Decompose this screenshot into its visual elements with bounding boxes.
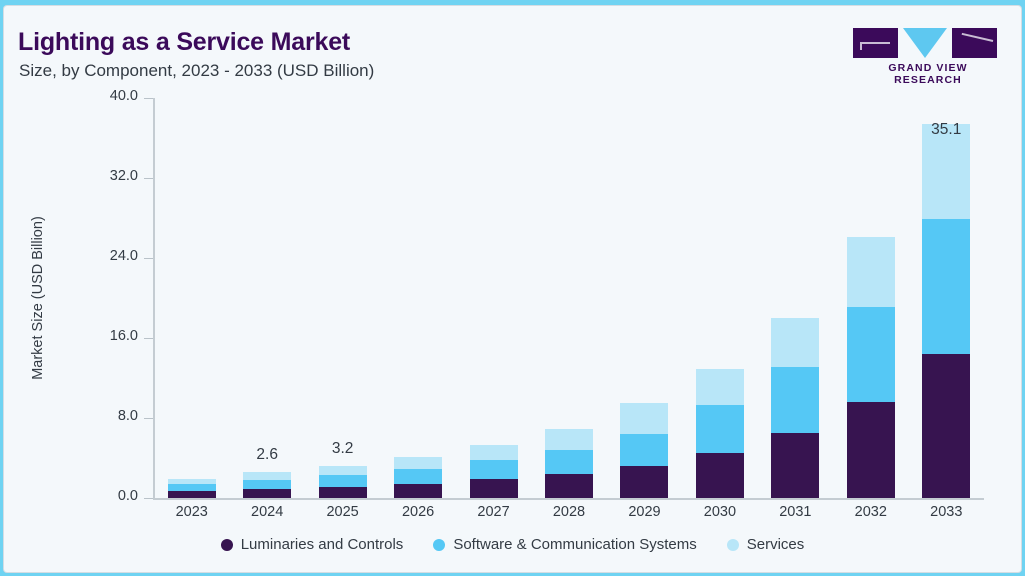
bar-segment[interactable] — [319, 475, 367, 487]
bar-segment[interactable] — [847, 402, 895, 498]
bar-segment[interactable] — [922, 219, 970, 354]
legend-color-swatch-icon — [727, 539, 739, 551]
y-axis-tick-labels: 0.08.016.024.032.040.0 — [78, 94, 138, 572]
x-tick-label: 2028 — [529, 504, 609, 520]
page-subtitle: Size, by Component, 2023 - 2033 (USD Bil… — [19, 61, 374, 81]
y-tick-mark — [144, 98, 153, 99]
x-tick-label: 2024 — [227, 504, 307, 520]
bar-segment[interactable] — [394, 469, 442, 484]
x-tick-label: 2023 — [152, 504, 232, 520]
bar-segment[interactable] — [470, 460, 518, 479]
y-axis-title: Market Size (USD Billion) — [30, 168, 46, 428]
legend-label: Luminaries and Controls — [241, 536, 404, 553]
chart-plot-area: Market Size (USD Billion) 0.08.016.024.0… — [4, 94, 1021, 572]
y-tick-label: 0.0 — [78, 488, 138, 504]
x-tick-label: 2029 — [604, 504, 684, 520]
legend-label: Services — [747, 536, 805, 553]
bar-value-label: 35.1 — [906, 121, 986, 139]
bar-segment[interactable] — [922, 354, 970, 498]
bar-segment[interactable] — [771, 367, 819, 433]
bar-segment[interactable] — [319, 487, 367, 498]
bar-segment[interactable] — [620, 466, 668, 498]
x-axis-line — [153, 498, 984, 500]
x-tick-label: 2025 — [303, 504, 383, 520]
bar-column[interactable] — [243, 472, 291, 498]
brand-logo: GRAND VIEW RESEARCH — [853, 28, 1003, 76]
chart-header: Lighting as a Service Market Size, by Co… — [4, 6, 1021, 94]
page-title: Lighting as a Service Market — [18, 28, 350, 57]
x-tick-label: 2027 — [454, 504, 534, 520]
x-tick-label: 2031 — [755, 504, 835, 520]
y-tick-mark — [144, 258, 153, 259]
y-tick-mark — [144, 178, 153, 179]
bar-segment[interactable] — [545, 429, 593, 450]
legend-color-swatch-icon — [433, 539, 445, 551]
bar-segment[interactable] — [319, 466, 367, 475]
bar-segment[interactable] — [696, 369, 744, 405]
bar-segment[interactable] — [620, 403, 668, 434]
y-tick-label: 24.0 — [78, 248, 138, 264]
y-tick-label: 40.0 — [78, 88, 138, 104]
x-tick-label: 2030 — [680, 504, 760, 520]
bar-value-label: 3.2 — [303, 440, 383, 458]
bar-column[interactable] — [771, 318, 819, 498]
y-tick-label: 8.0 — [78, 408, 138, 424]
chart-legend: Luminaries and ControlsSoftware & Commun… — [4, 536, 1021, 553]
logo-marks — [853, 28, 1003, 58]
bar-column[interactable] — [470, 445, 518, 498]
y-tick-mark — [144, 418, 153, 419]
bar-column[interactable] — [696, 369, 744, 498]
y-tick-label: 16.0 — [78, 328, 138, 344]
legend-label: Software & Communication Systems — [453, 536, 696, 553]
bar-segment[interactable] — [771, 433, 819, 498]
bar-segment[interactable] — [620, 434, 668, 466]
x-tick-label: 2033 — [906, 504, 986, 520]
bar-segment[interactable] — [394, 484, 442, 498]
y-tick-mark — [144, 338, 153, 339]
bar-segment[interactable] — [545, 450, 593, 474]
chart-card: Lighting as a Service Market Size, by Co… — [4, 6, 1021, 572]
x-axis-tick-labels: 2023202420252026202720282029203020312032… — [154, 504, 984, 530]
bar-segment[interactable] — [168, 491, 216, 498]
bar-segment[interactable] — [696, 453, 744, 498]
x-tick-label: 2026 — [378, 504, 458, 520]
bar-column[interactable] — [394, 457, 442, 498]
bar-value-label: 2.6 — [227, 446, 307, 464]
logo-text: GRAND VIEW RESEARCH — [853, 62, 1003, 86]
logo-g-icon — [853, 28, 898, 58]
bar-segment[interactable] — [847, 307, 895, 402]
bar-segment[interactable] — [771, 318, 819, 367]
bar-column[interactable] — [620, 403, 668, 498]
bar-column[interactable] — [319, 466, 367, 498]
x-tick-label: 2032 — [831, 504, 911, 520]
bar-column[interactable] — [922, 124, 970, 498]
legend-item[interactable]: Luminaries and Controls — [221, 536, 404, 553]
bar-segment[interactable] — [243, 480, 291, 489]
bar-segment[interactable] — [243, 489, 291, 498]
legend-color-swatch-icon — [221, 539, 233, 551]
bar-segment[interactable] — [470, 479, 518, 498]
bar-segment[interactable] — [470, 445, 518, 460]
y-tick-mark — [144, 498, 153, 499]
logo-r-icon — [952, 28, 997, 58]
legend-item[interactable]: Software & Communication Systems — [433, 536, 696, 553]
bar-series-group: 2.63.235.1 — [154, 94, 984, 498]
bar-segment[interactable] — [847, 237, 895, 307]
logo-v-triangle-icon — [903, 28, 947, 58]
bar-column[interactable] — [545, 429, 593, 498]
bar-column[interactable] — [168, 479, 216, 498]
y-tick-label: 32.0 — [78, 168, 138, 184]
bar-segment[interactable] — [545, 474, 593, 498]
legend-item[interactable]: Services — [727, 536, 805, 553]
bar-segment[interactable] — [243, 472, 291, 480]
bar-column[interactable] — [847, 237, 895, 498]
bar-segment[interactable] — [168, 484, 216, 491]
bar-segment[interactable] — [394, 457, 442, 469]
bar-segment[interactable] — [696, 405, 744, 453]
